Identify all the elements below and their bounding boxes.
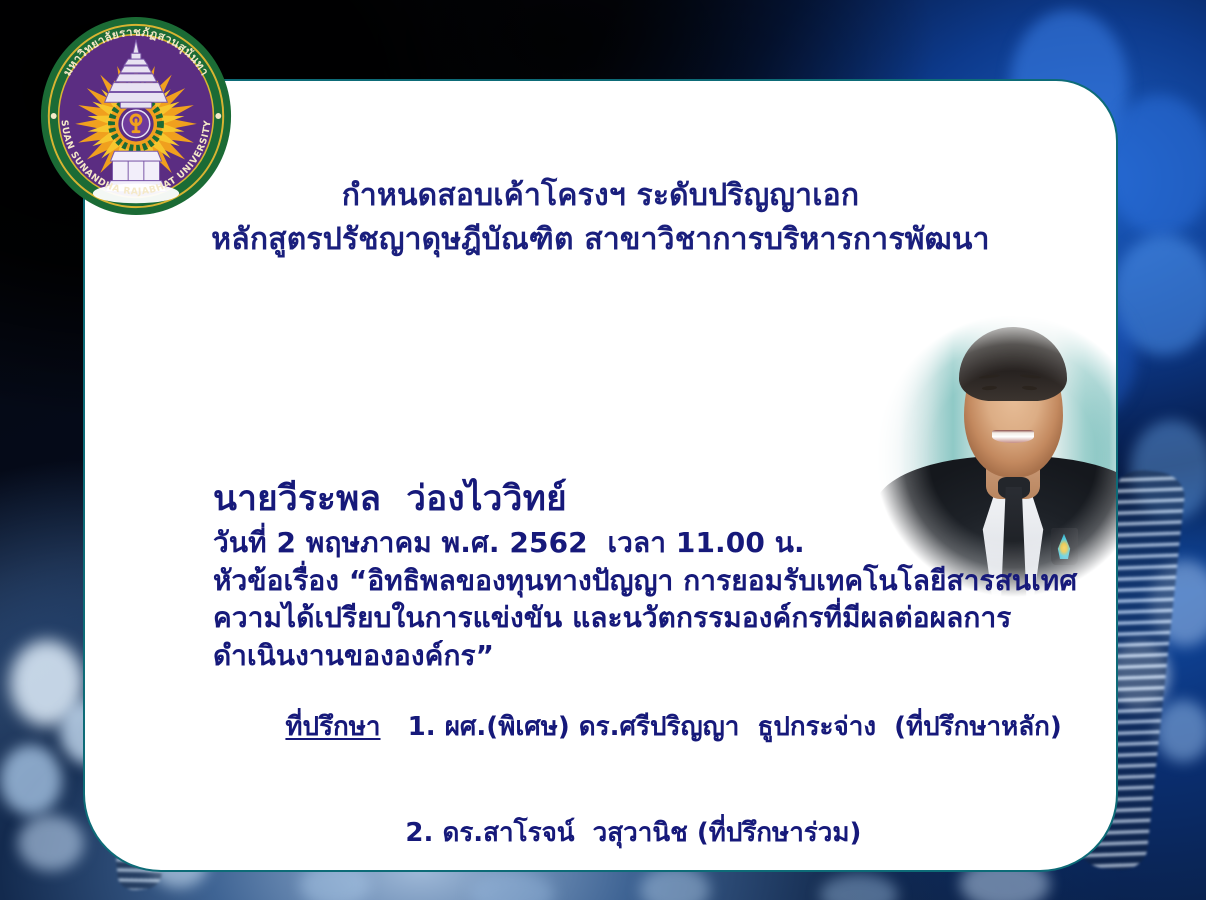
header-line-2: หลักสูตรปรัชญาดุษฎีบัณฑิต สาขาวิชาการบริ…: [85, 221, 1116, 259]
advisor-item-2: 2. ดร.สาโรจน์ วสุวานิช (ที่ปรึกษาร่วม): [405, 818, 861, 848]
exam-datetime: วันที่ 2 พฤษภาคม พ.ศ. 2562 เวลา 11.00 น.: [213, 524, 993, 562]
poster-canvas: กำหนดสอบเค้าโครงฯ ระดับปริญญาเอก หลักสูต…: [0, 0, 1206, 900]
invitation-footer: เรียนเชิญผู้สนใจเข้าร่วมรับฟังการสอบวิทย…: [85, 869, 1116, 872]
page-title: กำหนดสอบเค้าโครงฯ ระดับปริญญาเอก หลักสูต…: [85, 177, 1116, 259]
advisor-label: ที่ปรึกษา: [285, 712, 380, 742]
advisor-row-2: 2. ดร.สาโรจน์ วสุวานิช (ที่ปรึกษาร่วม): [333, 780, 993, 872]
candidate-name: นายวีระพล ว่องไววิทย์: [213, 479, 993, 520]
topic-line-2: ความได้เปรียบในการแข่งขัน และนวัตกรรมองค…: [213, 599, 993, 637]
university-logo: มหาวิทยาลัยราชภัฏสวนสุนันทา SUAN SUNANDH…: [38, 14, 234, 218]
photo-lapel-badge: [1051, 528, 1078, 565]
footer-line-1: เรียนเชิญผู้สนใจเข้าร่วมรับฟังการสอบวิทย…: [85, 869, 1116, 872]
photo-smile: [992, 430, 1034, 443]
announcement-body: นายวีระพล ว่องไววิทย์ วันที่ 2 พฤษภาคม พ…: [213, 479, 993, 872]
announcement-card: กำหนดสอบเค้าโครงฯ ระดับปริญญาเอก หลักสูต…: [83, 79, 1118, 872]
university-seal-icon: มหาวิทยาลัยราชภัฏสวนสุนันทา SUAN SUNANDH…: [38, 14, 234, 218]
advisor-item-1: 1. ผศ.(พิเศษ) ดร.ศรีปริญญา ธูปกระจ่าง (ท…: [381, 712, 1062, 742]
topic-line-1: หัวข้อเรื่อง “อิทธิพลของทุนทางปัญญา การย…: [213, 562, 993, 600]
topic-line-3: ดำเนินงานขององค์กร”: [213, 637, 993, 675]
advisor-row-1: ที่ปรึกษา 1. ผศ.(พิเศษ) ดร.ศรีปริญญา ธูป…: [213, 674, 993, 780]
header-line-1: กำหนดสอบเค้าโครงฯ ระดับปริญญาเอก: [85, 177, 1116, 215]
